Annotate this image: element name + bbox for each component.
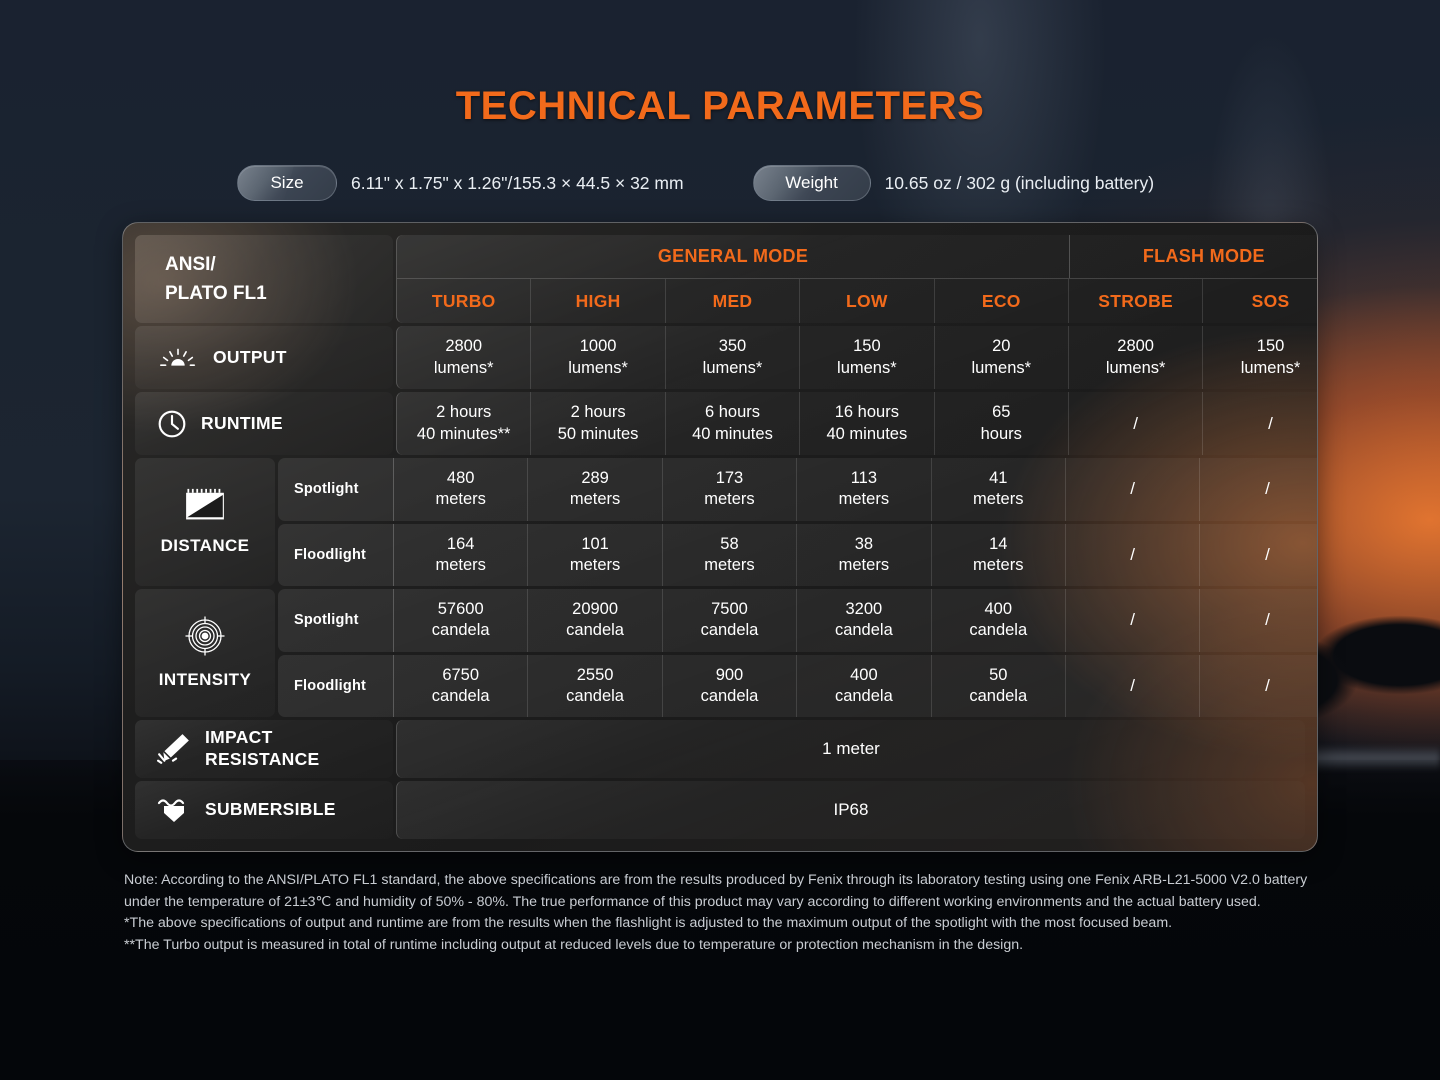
cell-value-primary: 58 (720, 534, 738, 555)
table-cell-empty: / (1203, 392, 1318, 455)
target-icon (185, 616, 225, 656)
row-label-submersible: SUBMERSIBLE (135, 781, 393, 839)
clock-icon (157, 409, 187, 439)
spec-weight: Weight 10.65 oz / 302 g (including batte… (753, 165, 1154, 201)
group-label-text: DISTANCE (161, 536, 250, 556)
cell-value-unit: meters (839, 489, 889, 510)
table-row: RUNTIME2 hours40 minutes**2 hours50 minu… (135, 392, 1305, 455)
cell-value-primary: / (1133, 413, 1138, 435)
cell-value-unit: meters (435, 489, 485, 510)
footnote-1: Note: According to the ANSI/PLATO FL1 st… (124, 870, 1324, 913)
cell-value-primary: 113 (851, 468, 877, 489)
table-cell: 57600candela (394, 589, 528, 652)
row-label-line-1: SUBMERSIBLE (205, 799, 336, 821)
cell-value-unit: candela (701, 620, 759, 641)
corner-line-2: PLATO FL1 (165, 279, 393, 308)
cell-value-unit: candela (701, 686, 759, 707)
subrow-cells: 57600candela20900candela7500candela3200c… (393, 589, 1318, 652)
cell-value-unit: meters (704, 489, 754, 510)
corner-line-1: ANSI/ (165, 250, 393, 279)
table-group-distance: DISTANCESpotlight480meters289meters173me… (135, 458, 1305, 586)
table-cell: 2550candela (528, 655, 662, 718)
cell-value-primary: 150 (1257, 336, 1285, 357)
column-header-turbo[interactable]: TURBO (397, 279, 531, 323)
column-header-strobe[interactable]: STROBE (1069, 279, 1203, 323)
cell-value-unit: meters (973, 489, 1023, 510)
cell-value-unit: candela (835, 620, 893, 641)
cell-value-primary: 150 (853, 336, 881, 357)
cell-value-primary: 50 (989, 665, 1007, 686)
subrow-cells: 480meters289meters173meters113meters41me… (393, 458, 1318, 521)
cell-value-unit: 40 minutes (692, 424, 773, 445)
group-header-flash-mode: FLASH MODE (1069, 235, 1318, 278)
group-label-distance: DISTANCE (135, 458, 275, 586)
cell-value-unit: lumens* (568, 358, 628, 379)
cell-value-primary: / (1268, 413, 1273, 435)
cell-value-unit: candela (566, 620, 624, 641)
table-cell: 113meters (797, 458, 931, 521)
cell-value-unit: lumens* (703, 358, 763, 379)
cell-value-unit: lumens* (1106, 358, 1166, 379)
column-header-eco[interactable]: ECO (935, 279, 1069, 323)
table-subrow: Spotlight57600candela20900candela7500can… (278, 589, 1318, 652)
row-value-full-width: IP68 (396, 781, 1305, 839)
table-cell: 150lumens* (800, 326, 934, 389)
table-header: ANSI/ PLATO FL1 GENERAL MODE FLASH MODE … (135, 235, 1305, 323)
group-label-text: INTENSITY (159, 670, 251, 690)
cell-value-unit: hours (981, 424, 1022, 445)
specs-strip: Size 6.11" x 1.75" x 1.26"/155.3 × 44.5 … (237, 165, 1154, 201)
cell-value-unit: meters (435, 555, 485, 576)
table-row-wide: SUBMERSIBLEIP68 (135, 781, 1305, 839)
subrow-label-floodlight: Floodlight (278, 655, 393, 718)
table-cell-empty: / (1066, 524, 1200, 587)
table-row: OUTPUT2800lumens*1000lumens*350lumens*15… (135, 326, 1305, 389)
row-label-text-block: IMPACTRESISTANCE (205, 727, 320, 770)
cell-value-primary: / (1130, 609, 1135, 631)
cell-value-primary: 101 (581, 534, 609, 555)
table-cell: 3200candela (797, 589, 931, 652)
mode-group-row: GENERAL MODE FLASH MODE (397, 235, 1318, 278)
cell-value-primary: 2550 (577, 665, 614, 686)
table-subrow: Floodlight164meters101meters58meters38me… (278, 524, 1318, 587)
cell-value-primary: / (1265, 675, 1270, 697)
cell-value-unit: meters (704, 555, 754, 576)
cell-value-primary: 400 (984, 599, 1012, 620)
footnotes: Note: According to the ANSI/PLATO FL1 st… (124, 870, 1324, 956)
table-cell: 1000lumens* (531, 326, 665, 389)
spec-size: Size 6.11" x 1.75" x 1.26"/155.3 × 44.5 … (237, 165, 684, 201)
table-cell: 58meters (663, 524, 797, 587)
cell-value-unit: candela (969, 620, 1027, 641)
impact-drop-icon (157, 732, 191, 766)
table-cell: 2 hours50 minutes (531, 392, 665, 455)
column-header-med[interactable]: MED (666, 279, 800, 323)
cell-value-primary: 164 (447, 534, 475, 555)
table-cell: 65hours (935, 392, 1069, 455)
cell-value-primary: 480 (447, 468, 475, 489)
subrow-label-spotlight: Spotlight (278, 458, 393, 521)
cell-value-unit: lumens* (971, 358, 1031, 379)
row-label-runtime: RUNTIME (135, 392, 393, 455)
water-submersible-icon (157, 795, 191, 825)
column-header-row: TURBOHIGHMEDLOWECOSTROBESOS (397, 278, 1318, 323)
table-cell: 2800lumens* (1069, 326, 1203, 389)
subrow-label-floodlight: Floodlight (278, 524, 393, 587)
cell-value-primary: 2 hours (436, 402, 491, 423)
table-subrow: Floodlight6750candela2550candela900cande… (278, 655, 1318, 718)
cell-value-primary: 20900 (572, 599, 618, 620)
cell-value-unit: 50 minutes (558, 424, 639, 445)
table-cell: 14meters (932, 524, 1066, 587)
group-body: Spotlight480meters289meters173meters113m… (278, 458, 1318, 586)
page-root: TECHNICAL PARAMETERS Size 6.11" x 1.75" … (0, 0, 1440, 1080)
cell-value-unit: lumens* (1241, 358, 1301, 379)
table-cell-empty: / (1066, 589, 1200, 652)
table-cell: 101meters (528, 524, 662, 587)
row-cells: 2800lumens*1000lumens*350lumens*150lumen… (396, 326, 1318, 389)
cell-value-primary: 400 (850, 665, 878, 686)
table-cell-empty: / (1200, 458, 1318, 521)
table-cell: 20900candela (528, 589, 662, 652)
table-cell-empty: / (1200, 589, 1318, 652)
cell-value-unit: meters (839, 555, 889, 576)
cell-value-primary: 65 (992, 402, 1010, 423)
table-cell: 173meters (663, 458, 797, 521)
row-label-text: RUNTIME (201, 413, 283, 434)
cell-value-primary: 14 (989, 534, 1007, 555)
column-header-sos[interactable]: SOS (1203, 279, 1318, 323)
cell-value-primary: / (1130, 544, 1135, 566)
group-label-intensity: INTENSITY (135, 589, 275, 717)
table-cell-empty: / (1066, 655, 1200, 718)
row-label-text-block: SUBMERSIBLE (205, 799, 336, 821)
row-label-text: OUTPUT (213, 347, 287, 368)
weight-pill-label: Weight (785, 173, 838, 193)
cell-value-primary: 3200 (846, 599, 883, 620)
cell-value-unit: 40 minutes (827, 424, 908, 445)
cell-value-unit: meters (973, 555, 1023, 576)
technical-parameters-table: ANSI/ PLATO FL1 GENERAL MODE FLASH MODE … (122, 222, 1318, 852)
table-cell-empty: / (1200, 655, 1318, 718)
size-pill-label: Size (270, 173, 303, 193)
table-corner-standard: ANSI/ PLATO FL1 (135, 235, 393, 323)
cell-value-unit: candela (432, 686, 490, 707)
table-cell-empty: / (1066, 458, 1200, 521)
cell-value-unit: candela (835, 686, 893, 707)
table-cell: 289meters (528, 458, 662, 521)
table-cell: 7500candela (663, 589, 797, 652)
cell-value-primary: 41 (989, 468, 1007, 489)
cell-value-primary: 2800 (1117, 336, 1154, 357)
table-cell-empty: / (1069, 392, 1203, 455)
sunburst-icon (157, 345, 199, 371)
size-value: 6.11" x 1.75" x 1.26"/155.3 × 44.5 × 32 … (351, 173, 684, 194)
cell-value-unit: lumens* (837, 358, 897, 379)
size-pill: Size (237, 165, 337, 201)
cell-value-primary: 38 (855, 534, 873, 555)
table-cell: 480meters (394, 458, 528, 521)
table-cell: 2800lumens* (397, 326, 531, 389)
table-cell: 38meters (797, 524, 931, 587)
table-header-modes: GENERAL MODE FLASH MODE TURBOHIGHMEDLOWE… (396, 235, 1318, 323)
cell-value-unit: candela (969, 686, 1027, 707)
table-subrow: Spotlight480meters289meters173meters113m… (278, 458, 1318, 521)
beam-ruler-icon (185, 488, 225, 522)
row-value-full-width: 1 meter (396, 720, 1305, 778)
footnote-3: **The Turbo output is measured in total … (124, 935, 1324, 957)
page-title: TECHNICAL PARAMETERS (0, 84, 1440, 129)
row-label-line-2: RESISTANCE (205, 749, 320, 771)
cell-value-primary: 289 (581, 468, 609, 489)
row-label-impact: IMPACTRESISTANCE (135, 720, 393, 778)
cell-value-unit: candela (432, 620, 490, 641)
cell-value-primary: 1000 (580, 336, 617, 357)
cell-value-unit: lumens* (434, 358, 494, 379)
table-cell: 6 hours40 minutes (666, 392, 800, 455)
weight-value: 10.65 oz / 302 g (including battery) (885, 173, 1154, 194)
cell-value-unit: 40 minutes** (417, 424, 511, 445)
group-header-general-mode: GENERAL MODE (397, 235, 1069, 278)
table-cell: 2 hours40 minutes** (397, 392, 531, 455)
column-header-low[interactable]: LOW (800, 279, 934, 323)
table-cell: 400candela (797, 655, 931, 718)
subrow-cells: 164meters101meters58meters38meters14mete… (393, 524, 1318, 587)
cell-value-primary: / (1130, 478, 1135, 500)
table-cell: 150lumens* (1203, 326, 1318, 389)
row-cells: 2 hours40 minutes**2 hours50 minutes6 ho… (396, 392, 1318, 455)
subrow-label-spotlight: Spotlight (278, 589, 393, 652)
table-cell-empty: / (1200, 524, 1318, 587)
group-body: Spotlight57600candela20900candela7500can… (278, 589, 1318, 717)
cell-value-primary: 173 (716, 468, 744, 489)
table-cell: 16 hours40 minutes (800, 392, 934, 455)
table-cell: 41meters (932, 458, 1066, 521)
table-cell: 900candela (663, 655, 797, 718)
table-cell: 50candela (932, 655, 1066, 718)
table-cell: 400candela (932, 589, 1066, 652)
cell-value-primary: 2800 (445, 336, 482, 357)
table-body: OUTPUT2800lumens*1000lumens*350lumens*15… (135, 326, 1305, 839)
cell-value-unit: meters (570, 489, 620, 510)
table-cell: 20lumens* (935, 326, 1069, 389)
table-row-wide: IMPACTRESISTANCE1 meter (135, 720, 1305, 778)
cell-value-primary: 7500 (711, 599, 748, 620)
cell-value-primary: / (1265, 544, 1270, 566)
cell-value-primary: 6750 (442, 665, 479, 686)
cell-value-primary: 6 hours (705, 402, 760, 423)
table-cell: 350lumens* (666, 326, 800, 389)
footnote-2: *The above specifications of output and … (124, 913, 1324, 935)
cell-value-primary: 2 hours (571, 402, 626, 423)
cell-value-primary: 16 hours (835, 402, 899, 423)
column-header-high[interactable]: HIGH (531, 279, 665, 323)
row-label-output: OUTPUT (135, 326, 393, 389)
cell-value-primary: 20 (992, 336, 1010, 357)
weight-pill: Weight (753, 165, 871, 201)
cell-value-unit: meters (570, 555, 620, 576)
cell-value-primary: 900 (716, 665, 744, 686)
table-cell: 6750candela (394, 655, 528, 718)
table-group-intensity: INTENSITYSpotlight57600candela20900cande… (135, 589, 1305, 717)
row-label-line-1: IMPACT (205, 727, 320, 749)
table-cell: 164meters (394, 524, 528, 587)
cell-value-primary: 350 (719, 336, 747, 357)
cell-value-primary: 57600 (438, 599, 484, 620)
cell-value-unit: candela (566, 686, 624, 707)
cell-value-primary: / (1265, 609, 1270, 631)
subrow-cells: 6750candela2550candela900candela400cande… (393, 655, 1318, 718)
cell-value-primary: / (1130, 675, 1135, 697)
cell-value-primary: / (1265, 478, 1270, 500)
